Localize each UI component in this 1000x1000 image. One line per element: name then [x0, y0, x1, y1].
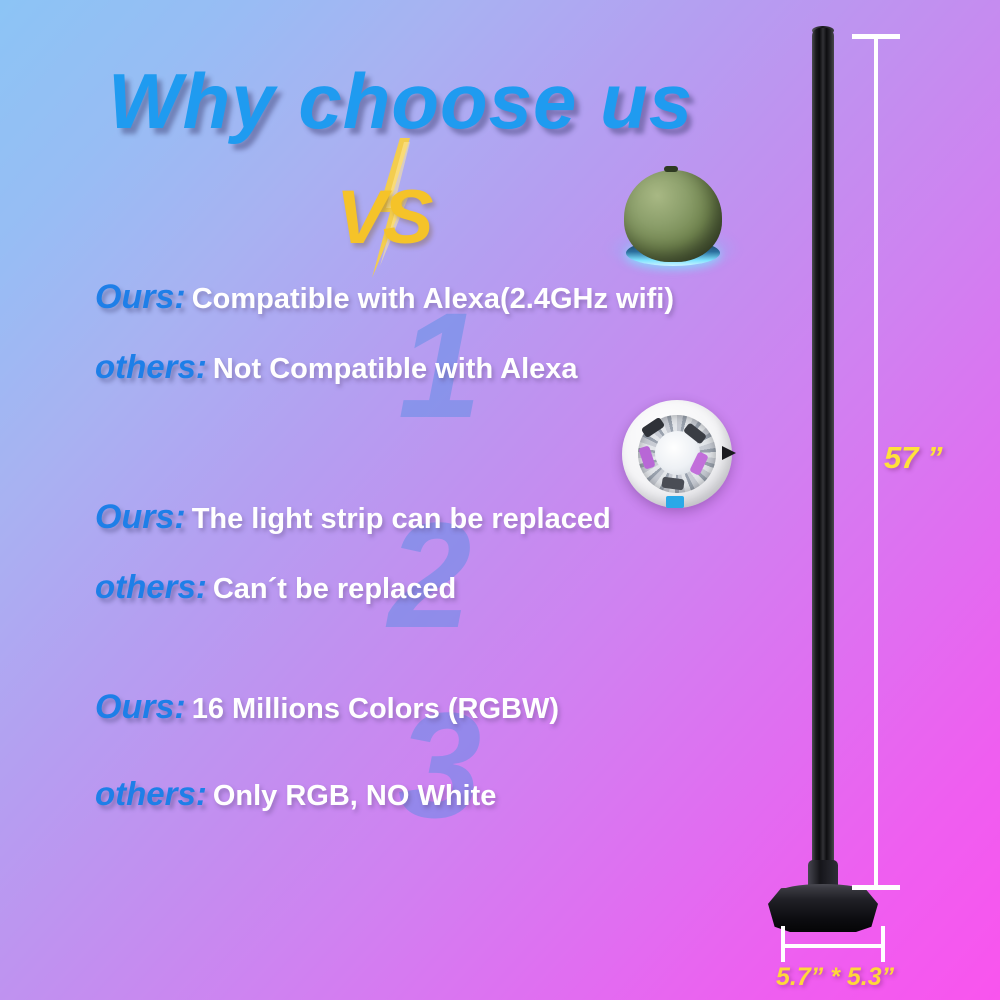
- ours-label: Ours:: [95, 498, 186, 537]
- comparison-row-2-ours: Ours: The light strip can be replaced: [95, 498, 611, 537]
- height-measure-line: [874, 34, 878, 890]
- comparison-row-3-others: others: Only RGB, NO White: [95, 775, 496, 813]
- ours-label: Ours:: [95, 688, 186, 727]
- ours-value: The light strip can be replaced: [192, 503, 611, 536]
- others-value: Can´t be replaced: [213, 573, 456, 606]
- ours-label: Ours:: [95, 278, 186, 317]
- vs-label: VS: [336, 174, 429, 261]
- lamp-pole: [812, 28, 834, 890]
- page-title: Why choose us: [108, 56, 693, 147]
- width-tick-right: [881, 926, 885, 962]
- speaker-body: [624, 170, 722, 262]
- comparison-row-3-ours: Ours: 16 Millions Colors (RGBW): [95, 688, 559, 727]
- echo-dot-speaker-image: [618, 166, 728, 274]
- height-dimension-label: 57 ”: [884, 440, 943, 476]
- others-value: Not Compatible with Alexa: [213, 353, 578, 386]
- reel-connector-tab: [666, 496, 684, 508]
- promo-image-canvas: Why choose us VS 1 2 3 Ours: Compatible …: [0, 0, 1000, 1000]
- width-measure-line: [781, 944, 885, 948]
- comparison-row-1-ours: Ours: Compatible with Alexa(2.4GHz wifi): [95, 278, 674, 317]
- floor-lamp-image: [740, 0, 1000, 1000]
- height-tick-bottom: [852, 885, 900, 890]
- others-label: others:: [95, 348, 207, 386]
- others-label: others:: [95, 775, 207, 813]
- base-dimension-label: 5.7” * 5.3”: [776, 963, 894, 992]
- ours-value: Compatible with Alexa(2.4GHz wifi): [192, 283, 674, 316]
- led-light-strip-reel-image: [622, 400, 732, 508]
- others-value: Only RGB, NO White: [213, 780, 497, 813]
- speaker-top-nub: [664, 166, 678, 172]
- ours-value: 16 Millions Colors (RGBW): [192, 693, 559, 726]
- comparison-row-1-others: others: Not Compatible with Alexa: [95, 348, 578, 386]
- vs-badge: VS: [318, 138, 508, 278]
- comparison-row-2-others: others: Can´t be replaced: [95, 568, 456, 606]
- others-label: others:: [95, 568, 207, 606]
